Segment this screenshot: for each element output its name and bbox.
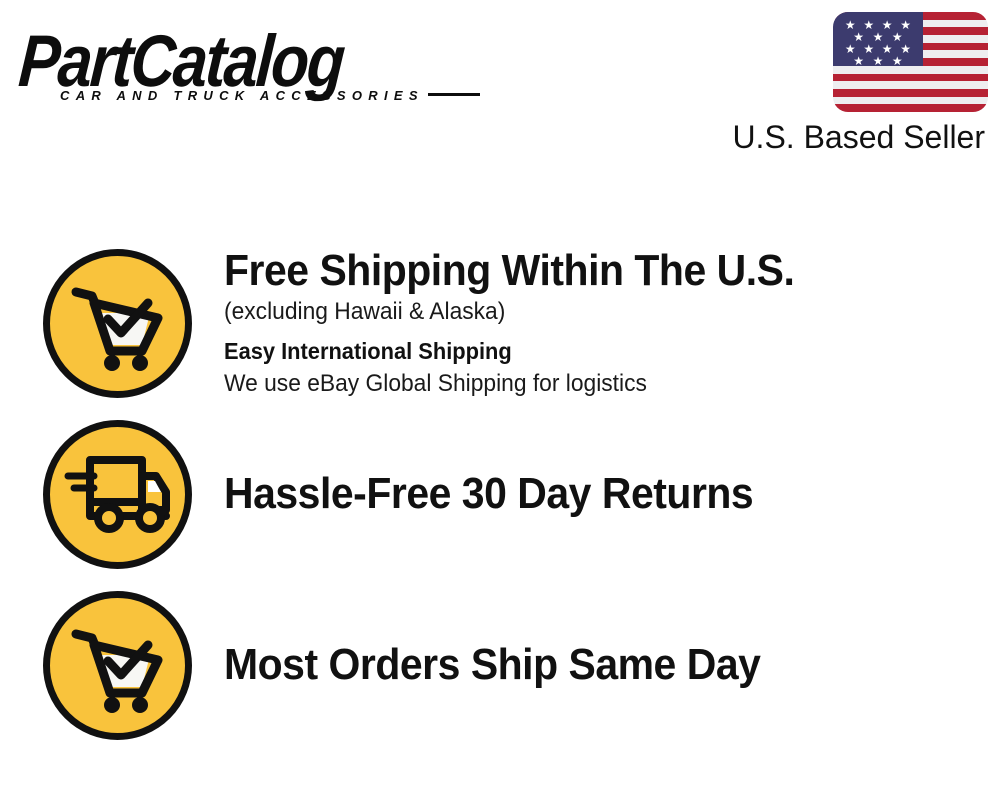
feature-subtitle: (excluding Hawaii & Alaska) <box>224 296 807 328</box>
delivery-truck-icon <box>43 420 192 569</box>
feature-title: Hassle-Free 30 Day Returns <box>224 469 753 519</box>
feature-text: Free Shipping Within The U.S. (excluding… <box>224 246 837 400</box>
feature-title: Most Orders Ship Same Day <box>224 640 760 690</box>
feature-row: Free Shipping Within The U.S. (excluding… <box>0 248 1000 398</box>
brand-tagline-rule <box>428 93 480 96</box>
feature-text: Most Orders Ship Same Day <box>224 640 801 690</box>
flag-stars: ★★★★ ★★★ ★★★★ ★★★ <box>833 12 923 66</box>
feature-row: Hassle-Free 30 Day Returns <box>0 419 1000 569</box>
feature-secondary-title: Easy International Shipping <box>224 334 807 368</box>
brand-tagline: CAR AND TRUCK ACCESSORIES <box>60 88 424 103</box>
feature-text: Hassle-Free 30 Day Returns <box>224 469 793 519</box>
feature-title: Free Shipping Within The U.S. <box>224 246 794 296</box>
us-based-seller-label: U.S. Based Seller <box>698 119 988 156</box>
us-based-seller-badge: ★★★★ ★★★ ★★★★ ★★★ U.S. Based Seller <box>698 12 988 156</box>
shopping-cart-check-icon <box>43 591 192 740</box>
brand-tagline-row: CAR AND TRUCK ACCESSORIES <box>60 88 480 103</box>
shopping-cart-check-icon <box>43 249 192 398</box>
flag-canton: ★★★★ ★★★ ★★★★ ★★★ <box>833 12 923 66</box>
feature-secondary-subtitle: We use eBay Global Shipping for logistic… <box>224 368 807 400</box>
promo-banner: PartCatalog CAR AND TRUCK ACCESSORIES ★★… <box>0 0 1000 800</box>
feature-row: Most Orders Ship Same Day <box>0 590 1000 740</box>
us-flag-icon: ★★★★ ★★★ ★★★★ ★★★ <box>833 12 988 112</box>
